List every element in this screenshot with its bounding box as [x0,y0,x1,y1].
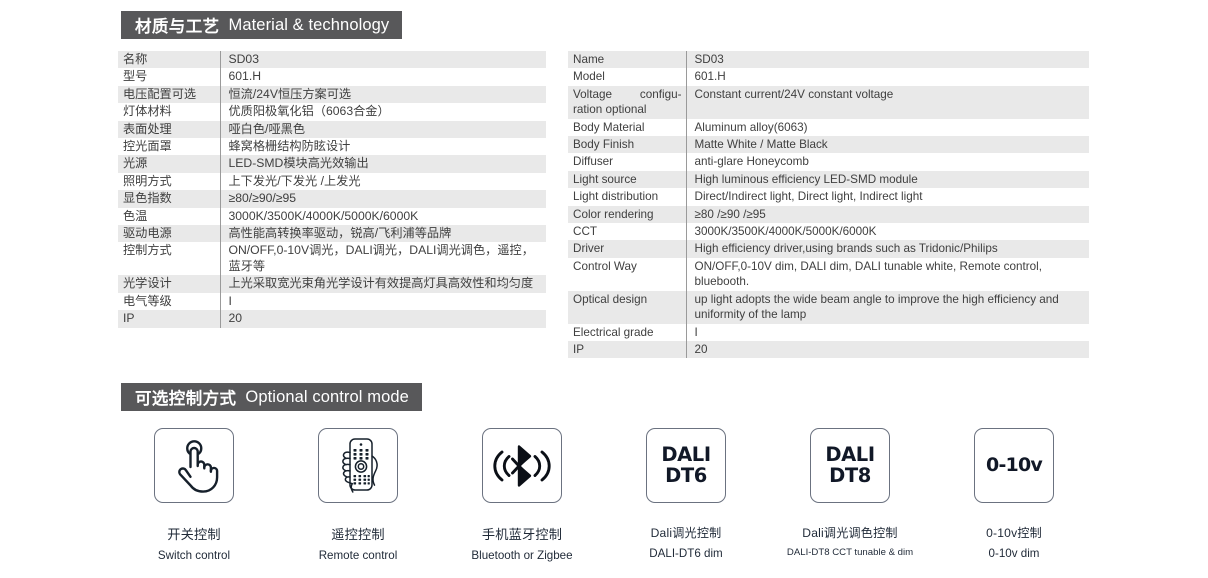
table-row: DriverHigh efficiency driver,using brand… [568,240,1089,257]
spec-value: 601.H [220,68,546,85]
control-mode-item[interactable]: DALIDT6Dali调光控制DALI-DT6 dim [610,428,762,562]
spec-value: 20 [220,310,546,327]
control-mode-label-en: Remote control [319,549,398,562]
control-mode-card[interactable]: DALIDT6 [646,428,726,503]
spec-key: 型号 [118,68,220,85]
table-row: Optical designup light adopts the wide b… [568,291,1089,324]
spec-key: Light source [568,171,686,188]
table-row: 控制方式ON/OFF,0-10V调光，DALI调光，DALI调光调色，遥控，蓝牙… [118,242,546,275]
spec-key: IP [118,310,220,327]
control-mode-item[interactable]: 遥控控制Remote control [282,428,434,562]
spec-key: 控光面罩 [118,138,220,155]
spec-key: Body Finish [568,136,686,153]
spec-key: 驱动电源 [118,225,220,242]
spec-value: Matte White / Matte Black [686,136,1089,153]
spec-value: 上下发光/下发光 /上发光 [220,173,546,190]
table-row: 照明方式上下发光/下发光 /上发光 [118,173,546,190]
spec-key: Name [568,51,686,68]
spec-value: LED-SMD模块高光效输出 [220,155,546,172]
control-mode-label-cn: Dali调光控制 [651,524,722,541]
dali-dt6-badge-icon: DALIDT6 [661,445,710,486]
spec-key: Color rendering [568,206,686,223]
bluetooth-wireless-icon [491,442,553,490]
zero-to-ten-volt-badge-icon: 0-10v [986,456,1042,476]
table-row: Body FinishMatte White / Matte Black [568,136,1089,153]
spec-value: I [686,324,1089,341]
control-mode-label-cn: 遥控控制 [331,524,385,543]
table-row: 控光面罩蜂窝格栅结构防眩设计 [118,138,546,155]
spec-value: 恒流/24V恒压方案可选 [220,86,546,103]
table-row: 显色指数≥80/≥90/≥95 [118,190,546,207]
table-row: Control WayON/OFF,0-10V dim, DALI dim, D… [568,258,1089,291]
spec-key: Light distribution [568,188,686,205]
spec-key: 色温 [118,208,220,225]
table-row: Model601.H [568,68,1089,85]
spec-key: Optical design [568,291,686,324]
spec-value: High luminous efficiency LED-SMD module [686,171,1089,188]
table-row: NameSD03 [568,51,1089,68]
table-row: IP20 [568,341,1089,358]
spec-value: Constant current/24V constant voltage [686,86,1089,119]
control-mode-card[interactable] [482,428,562,503]
table-row: Electrical gradeI [568,324,1089,341]
spec-sheet-page: 材质与工艺 Material & technology 名称SD03型号601.… [0,0,1208,578]
badge-line: DT6 [661,466,710,486]
control-mode-item[interactable]: 0-10v0-10v控制0-10v dim [938,428,1090,562]
table-row: Diffuseranti-glare Honeycomb [568,153,1089,170]
table-row: 表面处理哑白色/哑黑色 [118,121,546,138]
spec-value: 20 [686,341,1089,358]
spec-value: ≥80/≥90/≥95 [220,190,546,207]
spec-key: Diffuser [568,153,686,170]
control-mode-card[interactable]: 0-10v [974,428,1054,503]
spec-value: anti-glare Honeycomb [686,153,1089,170]
spec-value: I [220,293,546,310]
spec-key: 照明方式 [118,173,220,190]
table-row: 灯体材料优质阳极氧化铝（6063合金） [118,103,546,120]
spec-table-english: NameSD03Model601.HVoltage configu-ration… [568,51,1089,358]
section-header-material: 材质与工艺 Material & technology [121,11,402,39]
spec-value: 哑白色/哑黑色 [220,121,546,138]
spec-key: 控制方式 [118,242,220,275]
table-row: 光源LED-SMD模块高光效输出 [118,155,546,172]
spec-key: IP [568,341,686,358]
spec-value: 3000K/3500K/4000K/5000K/6000K [686,223,1089,240]
badge-line: 0-10v [986,456,1042,476]
spec-key: CCT [568,223,686,240]
spec-key: 光源 [118,155,220,172]
section-header-control-mode-cn: 可选控制方式 [135,385,236,409]
control-mode-item[interactable]: DALIDT8Dali调光调色控制DALI-DT8 CCT tunable & … [774,428,926,562]
control-mode-label-en: Switch control [158,549,230,562]
spec-value: 优质阳极氧化铝（6063合金） [220,103,546,120]
badge-line: DT8 [825,466,874,486]
spec-key: Electrical grade [568,324,686,341]
badge-line: DALI [661,445,710,465]
spec-key: 电气等级 [118,293,220,310]
spec-value: up light adopts the wide beam angle to i… [686,291,1089,324]
spec-key: 名称 [118,51,220,68]
section-header-material-en: Material & technology [229,16,390,35]
spec-value: High efficiency driver,using brands such… [686,240,1089,257]
control-mode-card[interactable] [318,428,398,503]
spec-key: Model [568,68,686,85]
table-row: Color rendering≥80 /≥90 /≥95 [568,206,1089,223]
section-header-material-cn: 材质与工艺 [135,13,220,37]
spec-key: 表面处理 [118,121,220,138]
control-mode-item[interactable]: 手机蓝牙控制Bluetooth or Zigbee [446,428,598,562]
spec-key: 灯体材料 [118,103,220,120]
spec-value: 高性能高转换率驱动，锐高/飞利浦等品牌 [220,225,546,242]
spec-value: ≥80 /≥90 /≥95 [686,206,1089,223]
table-row: 名称SD03 [118,51,546,68]
spec-value: SD03 [220,51,546,68]
spec-key: Body Material [568,119,686,136]
control-mode-label-cn: 开关控制 [167,524,221,543]
control-mode-item[interactable]: 开关控制Switch control [118,428,270,562]
spec-key: 电压配置可选 [118,86,220,103]
spec-key: Driver [568,240,686,257]
spec-table-chinese-body: 名称SD03型号601.H电压配置可选恒流/24V恒压方案可选灯体材料优质阳极氧… [118,51,546,328]
control-mode-label-cn: 手机蓝牙控制 [482,524,562,543]
spec-value: ON/OFF,0-10V调光，DALI调光，DALI调光调色，遥控，蓝牙等 [220,242,546,275]
spec-value: 上光采取宽光束角光学设计有效提高灯具高效性和均匀度 [220,275,546,292]
control-mode-card[interactable] [154,428,234,503]
table-row: 型号601.H [118,68,546,85]
table-row: CCT3000K/3500K/4000K/5000K/6000K [568,223,1089,240]
spec-key: Control Way [568,258,686,291]
spec-value: 601.H [686,68,1089,85]
control-mode-label-cn: 0-10v控制 [986,524,1042,541]
control-mode-label-en: Bluetooth or Zigbee [471,549,572,562]
table-row: 光学设计上光采取宽光束角光学设计有效提高灯具高效性和均匀度 [118,275,546,292]
spec-key: 光学设计 [118,275,220,292]
table-row: Voltage configu-ration optionalConstant … [568,86,1089,119]
control-mode-card[interactable]: DALIDT8 [810,428,890,503]
table-row: 电气等级I [118,293,546,310]
spec-table-english-body: NameSD03Model601.HVoltage configu-ration… [568,51,1089,358]
control-mode-label-en: DALI-DT6 dim [649,547,722,560]
dali-dt8-badge-icon: DALIDT8 [825,445,874,486]
section-header-control-mode-en: Optional control mode [245,388,409,407]
badge-line: DALI [825,445,874,465]
spec-value: 蜂窝格栅结构防眩设计 [220,138,546,155]
touch-hand-icon [168,438,220,494]
table-row: IP20 [118,310,546,327]
table-row: Light sourceHigh luminous efficiency LED… [568,171,1089,188]
control-mode-label-cn: Dali调光调色控制 [802,524,897,541]
spec-value: ON/OFF,0-10V dim, DALI dim, DALI tunable… [686,258,1089,291]
spec-key: 显色指数 [118,190,220,207]
table-row: Body MaterialAluminum alloy(6063) [568,119,1089,136]
spec-table-chinese: 名称SD03型号601.H电压配置可选恒流/24V恒压方案可选灯体材料优质阳极氧… [118,51,546,328]
table-row: Light distributionDirect/Indirect light,… [568,188,1089,205]
section-header-control-mode: 可选控制方式 Optional control mode [121,383,422,411]
spec-value: Aluminum alloy(6063) [686,119,1089,136]
control-mode-label-en: DALI-DT8 CCT tunable & dim [787,547,913,558]
spec-value: 3000K/3500K/4000K/5000K/6000K [220,208,546,225]
table-row: 驱动电源高性能高转换率驱动，锐高/飞利浦等品牌 [118,225,546,242]
spec-value: SD03 [686,51,1089,68]
spec-value: Direct/Indirect light, Direct light, Ind… [686,188,1089,205]
remote-control-icon [329,436,387,496]
control-mode-list: 开关控制Switch control 遥控控制Remote control [118,428,1090,562]
table-row: 电压配置可选恒流/24V恒压方案可选 [118,86,546,103]
spec-key: Voltage configu-ration optional [568,86,686,119]
table-row: 色温3000K/3500K/4000K/5000K/6000K [118,208,546,225]
control-mode-label-en: 0-10v dim [989,547,1040,560]
